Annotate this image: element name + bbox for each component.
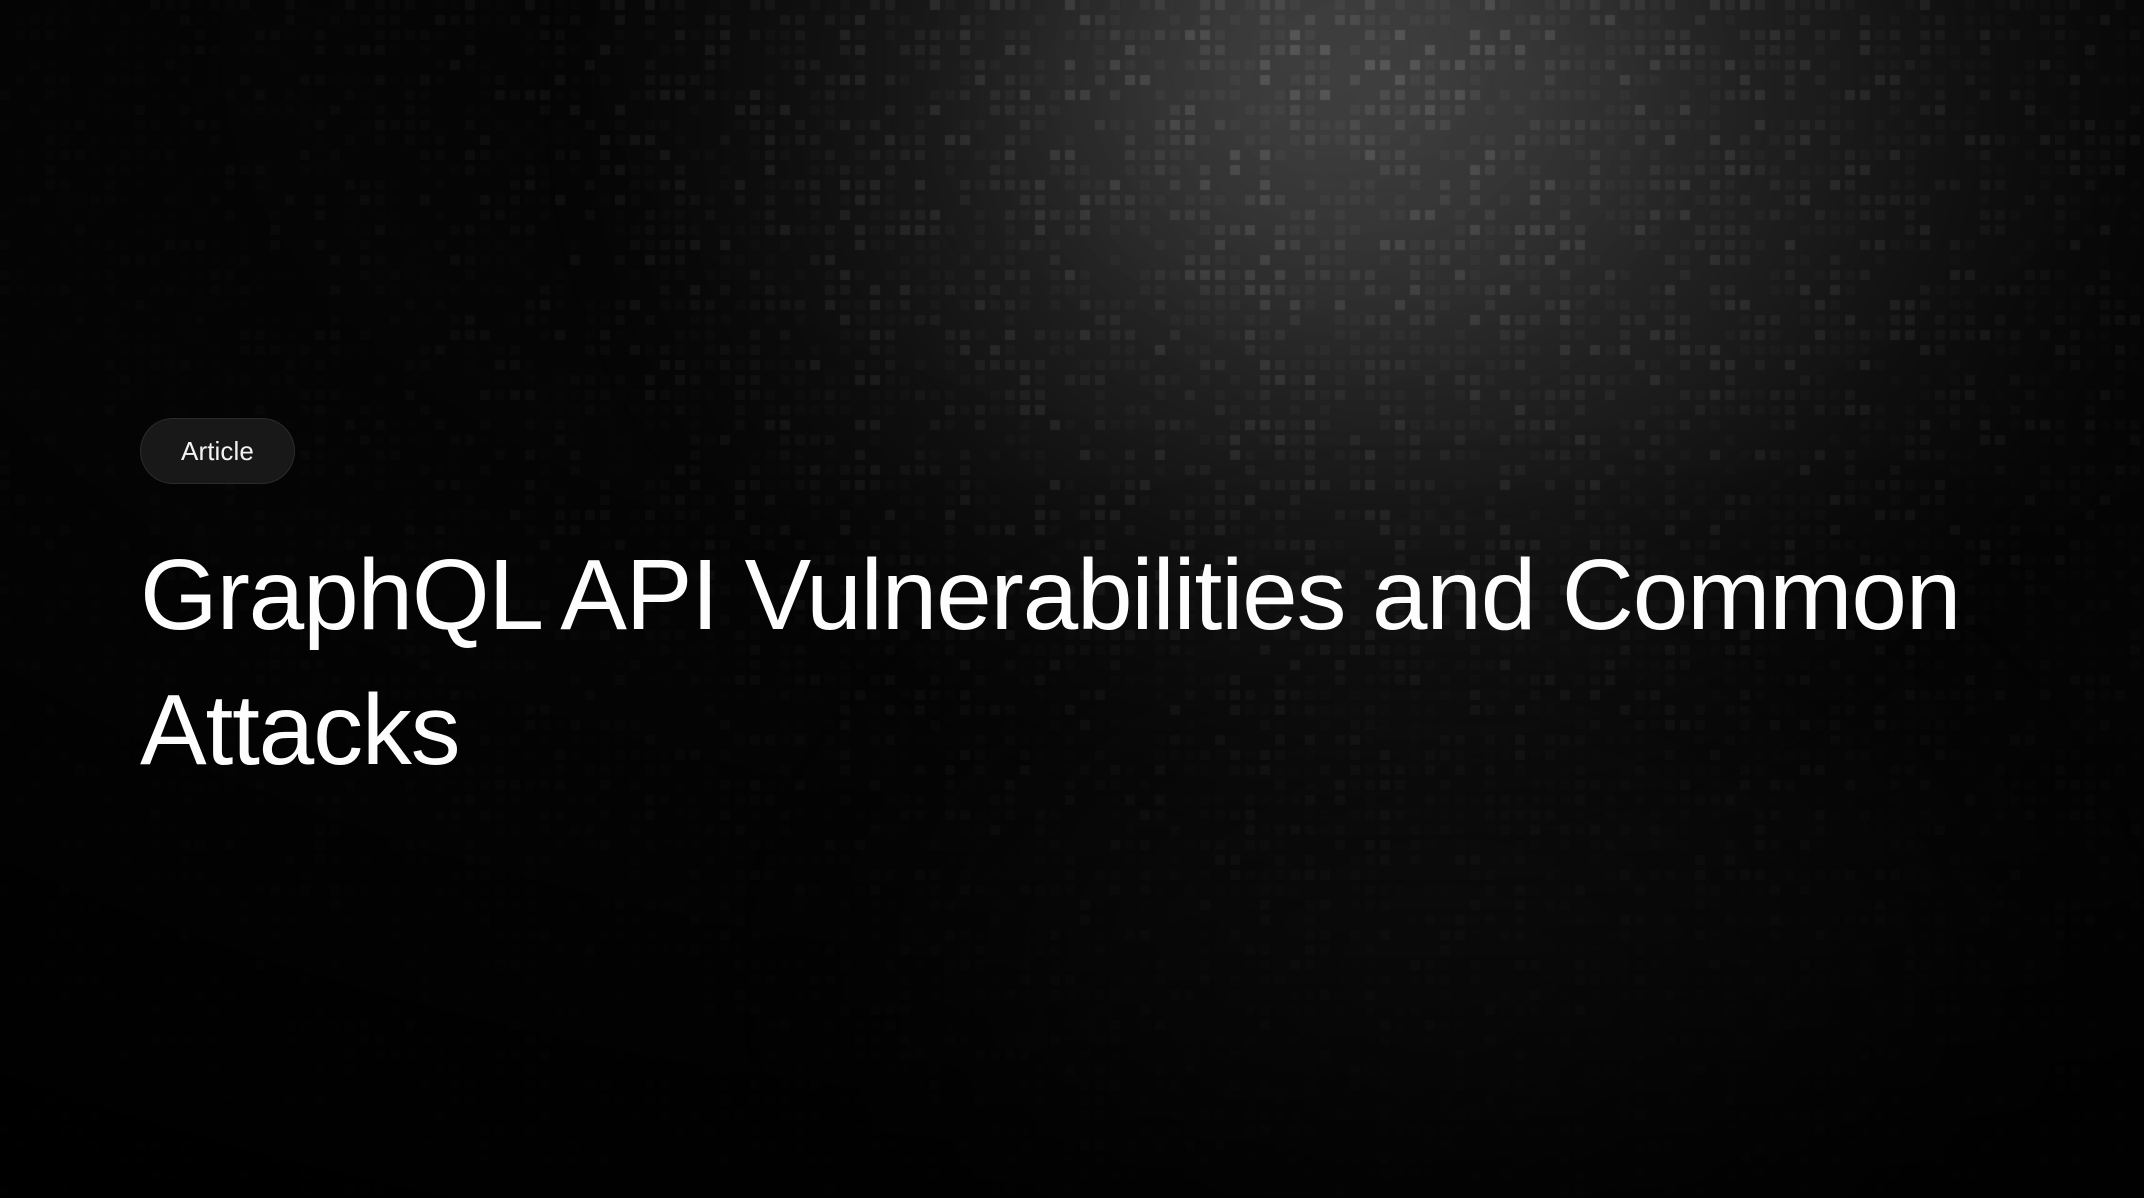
page-title: GraphQL API Vulnerabilities and Common A…	[140, 484, 2070, 798]
category-badge-label: Article	[181, 438, 254, 464]
hero-content: Article GraphQL API Vulnerabilities and …	[140, 418, 2080, 798]
category-badge[interactable]: Article	[140, 418, 295, 484]
hero-banner: Article GraphQL API Vulnerabilities and …	[0, 0, 2144, 1198]
